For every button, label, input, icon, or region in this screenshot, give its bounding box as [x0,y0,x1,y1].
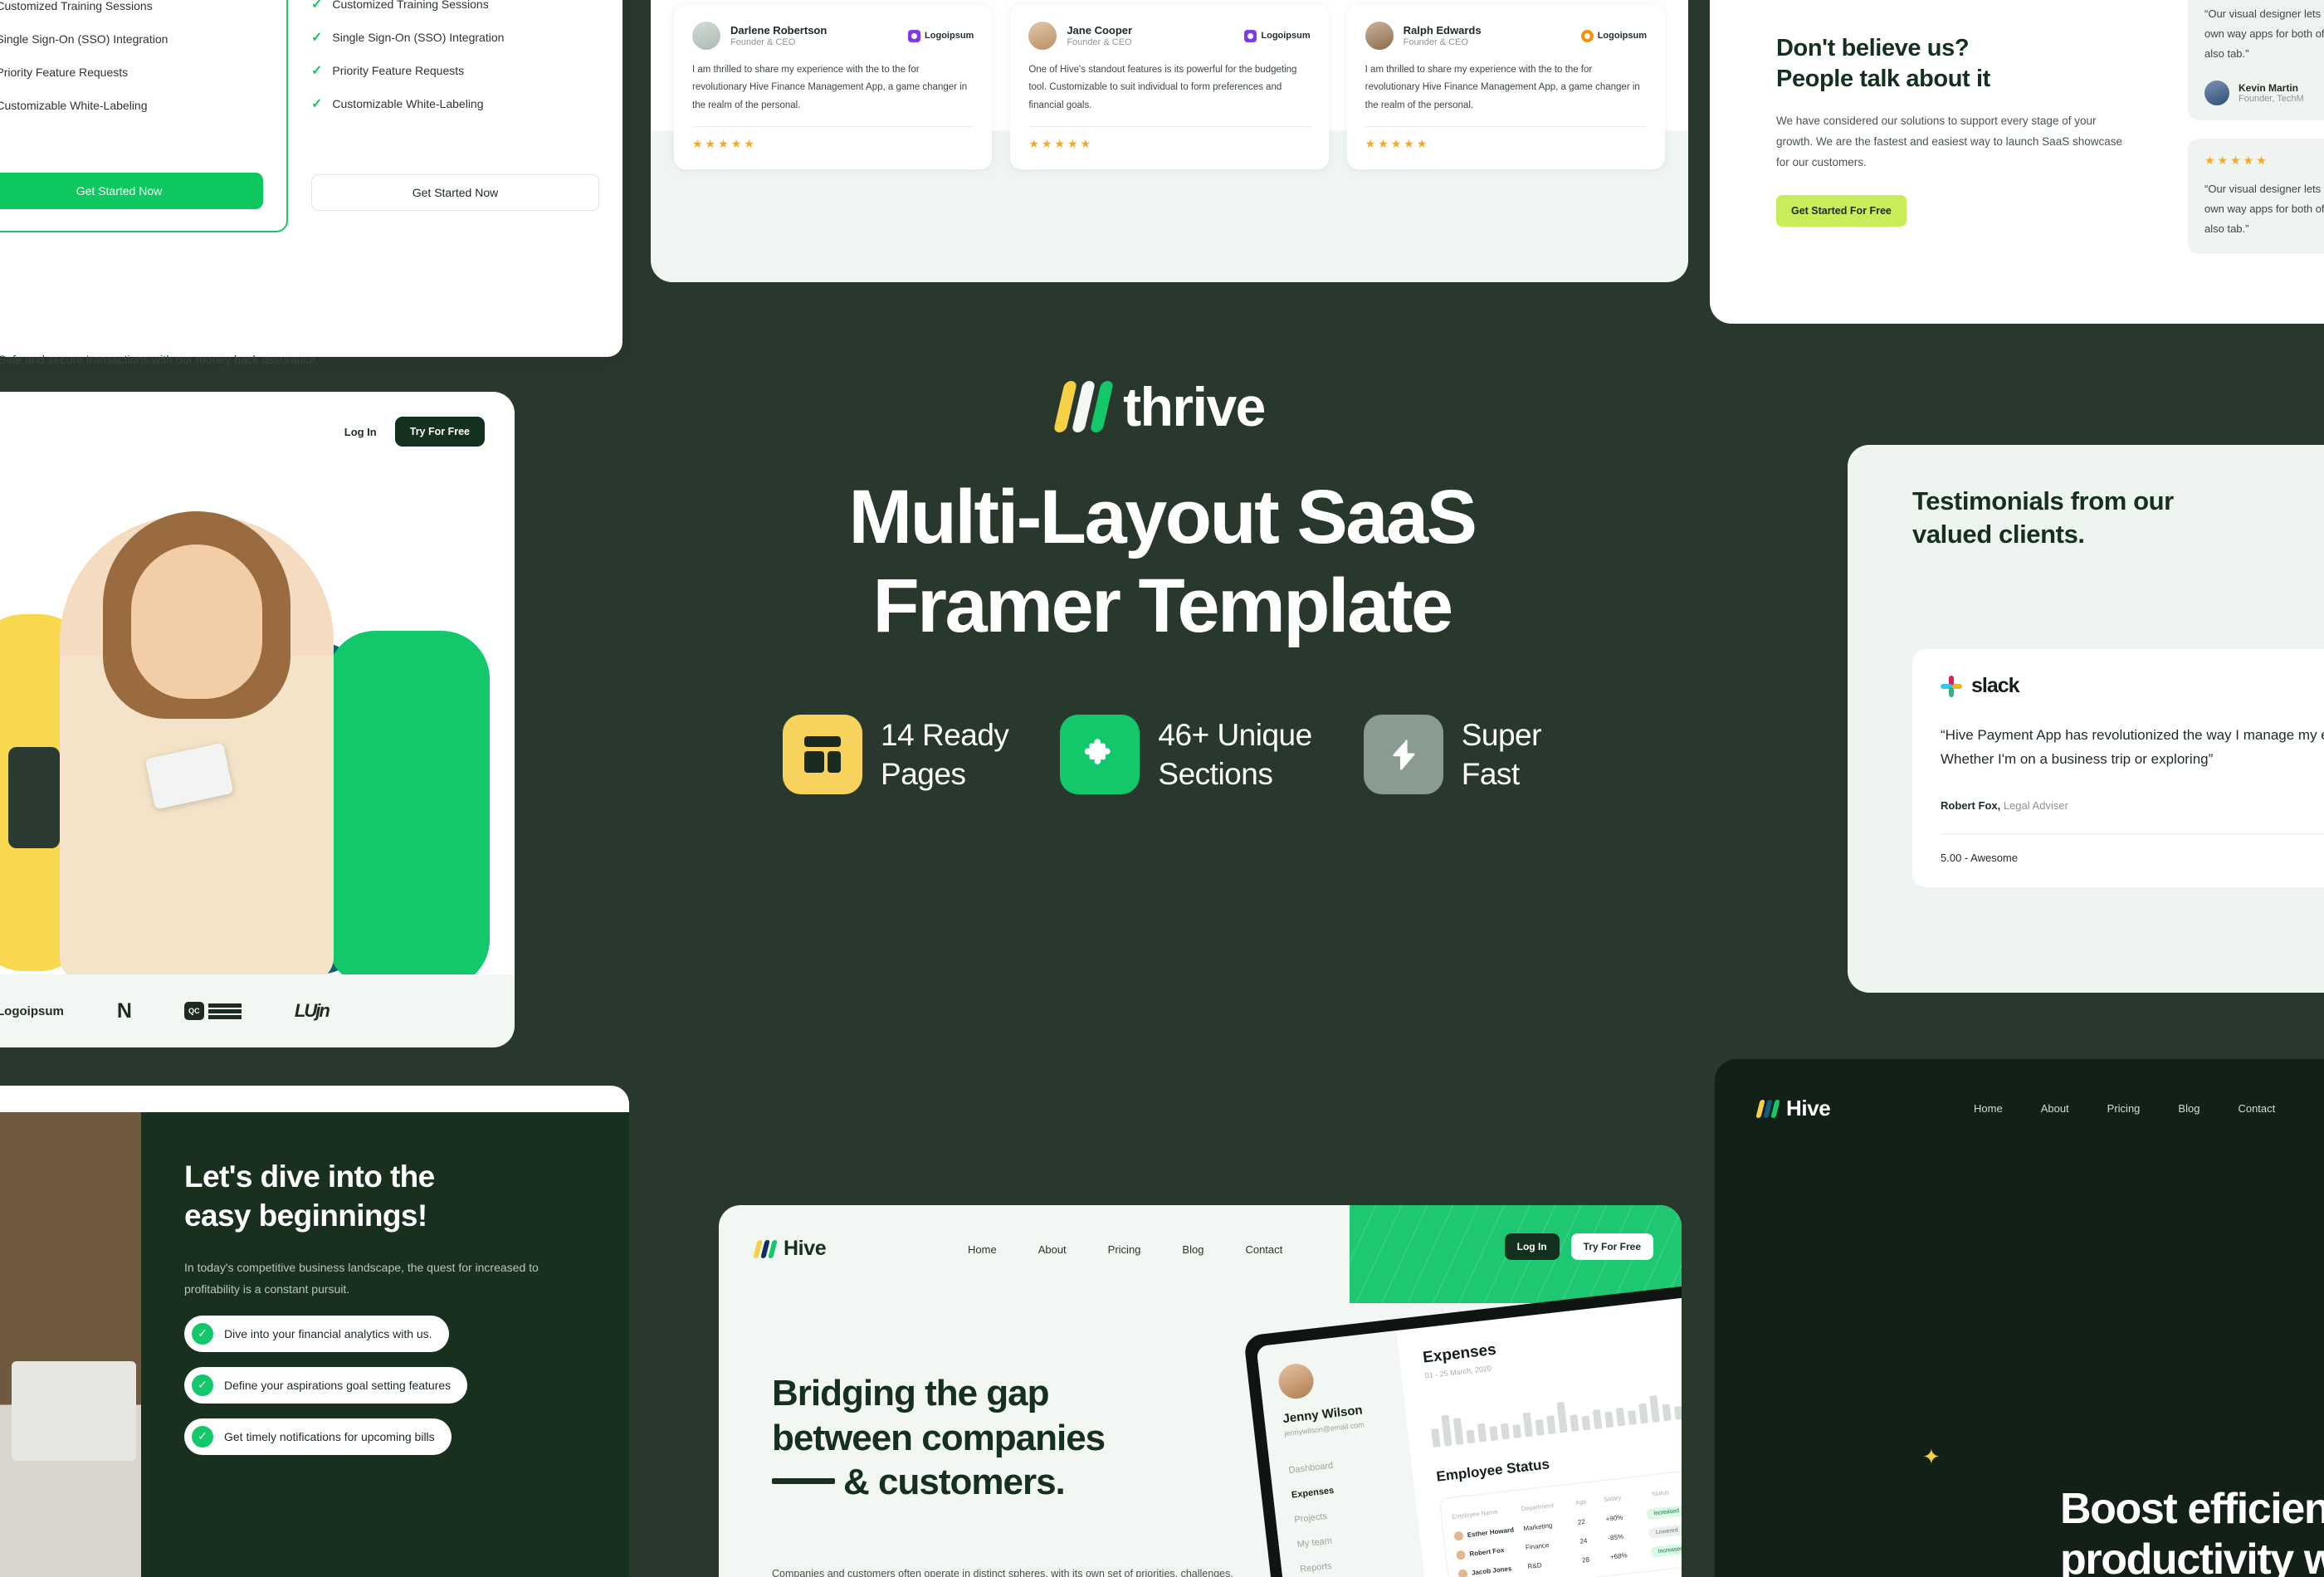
check-icon: ✓ [311,95,322,112]
dash-mark [772,1478,835,1484]
label-line-2: Sections [1158,754,1311,793]
chart-bar [1582,1415,1591,1430]
logoipsum-icon [1581,30,1594,42]
client-logo-strip: Logoipsum N QC LUjn [0,974,515,1047]
bridge-heading: Bridging the gap between companies & cus… [772,1371,1303,1505]
chart-bar [1501,1423,1510,1440]
testimonial-header: Jane Cooper Founder & CEO Logoipsum [1028,22,1310,50]
nav-item-contact[interactable]: Contact [2238,1102,2275,1115]
plan-feature: ✓Customizable White-Labeling [311,95,599,112]
hive-logo: Hive [1758,1096,1830,1121]
believe-copy: Don't believe us? People talk about it W… [1776,33,2133,227]
chart-bar [1604,1412,1614,1428]
avatar [1458,1569,1468,1577]
cell-age: 22 [1577,1516,1598,1526]
get-started-button-99[interactable]: Get Started Now [311,174,599,211]
logo-label: Logoipsum [1598,31,1647,41]
logoipsum-icon [1244,30,1257,42]
chart-bar [1431,1429,1440,1448]
label-line-1: Super [1462,715,1541,754]
review-card: ★★★★★ “Our visual designer lets you and … [2188,0,2324,120]
logoipsum-icon [908,30,920,42]
chart-bar [1467,1430,1476,1444]
feature-unique-sections: 46+ Unique Sections [1060,715,1311,794]
nav-item-blog[interactable]: Blog [1182,1243,1203,1256]
poster-canvas: $49 / month ✓Dedicated Account Manager ✓… [0,0,2324,1577]
heading-line-1: Don't believe us? [1776,33,2133,64]
author-name: Darlene Robertson [730,24,827,37]
lightning-bolt-icon [1364,715,1443,794]
believe-paragraph: We have considered our solutions to supp… [1776,111,2133,173]
feature-super-fast: Super Fast [1364,715,1541,794]
try-for-free-button[interactable]: Try For Free [1571,1233,1653,1260]
divider [692,126,974,127]
author-name: Ralph Edwards [1404,24,1482,37]
star-rating: ★★★★★ [1365,137,1647,151]
testimonial-list: Darlene Robertson Founder & CEO Logoipsu… [674,5,1665,169]
bridging-gap-card: Hive Home About Pricing Blog Contact Log… [719,1205,1682,1577]
pricing-plan-49: $49 / month ✓Dedicated Account Manager ✓… [0,0,288,232]
avatar [2204,81,2229,105]
status-badge: Increased [1647,1505,1682,1520]
nav-item-about[interactable]: About [2041,1102,2069,1115]
get-started-free-button[interactable]: Get Started For Free [1776,195,1907,227]
cell-name: Esther Howard [1453,1525,1516,1540]
title-line-2: Framer Template [0,562,2324,651]
avatar [1453,1531,1463,1541]
heading-line-3: & customers. [772,1460,1303,1505]
chart-bar [1535,1419,1545,1436]
logo-label: Logoipsum [1261,31,1310,41]
heading-line-2: productivity with [2060,1535,2324,1577]
dont-believe-us-card: Don't believe us? People talk about it W… [1710,0,2324,324]
sparkle-icon: ✦ [1922,1444,1941,1470]
chart-bar [1477,1423,1487,1442]
check-icon: ✓ [192,1323,213,1345]
cell-dept: Marketing [1523,1520,1570,1532]
avatar [692,22,720,50]
boost-heading: Boost efficiency productivity with [2060,1484,2324,1577]
divider [1028,126,1310,127]
sidebar-item-dashboard[interactable]: Dashboard [1288,1454,1394,1476]
check-icon: ✓ [192,1374,213,1396]
pricing-card: $49 / month ✓Dedicated Account Manager ✓… [0,0,622,357]
testimonial-author: Robert Fox, Legal Adviser [1941,799,2324,812]
plan-feature: ✓Single Sign-On (SSO) Integration [0,31,263,47]
testimonial-card: Jane Cooper Founder & CEO Logoipsum One … [1010,5,1328,169]
chart-bar [1556,1401,1567,1433]
avatar [1365,22,1394,50]
thrive-bars-icon [1059,381,1108,432]
pill-label: Get timely notifications for upcoming bi… [224,1430,435,1443]
label-line-2: Pages [881,754,1008,793]
cell-salary: +90% [1605,1511,1639,1522]
nav-item-contact[interactable]: Contact [1245,1243,1282,1256]
company-logo: Logoipsum [1244,30,1310,42]
company-logo: Logoipsum [1581,30,1647,42]
feature-label: Customized Training Sessions [332,0,488,11]
pricing-plan-grid: $49 / month ✓Dedicated Account Manager ✓… [0,0,622,232]
nav-item-pricing[interactable]: Pricing [2107,1102,2141,1115]
sidebar-item-my-team[interactable]: My team [1296,1528,1402,1550]
feature-label: Priority Feature Requests [0,66,128,79]
testimonial-header: Ralph Edwards Founder & CEO Logoipsum [1365,22,1647,50]
cell-dept: R&D [1527,1558,1575,1570]
chart-bar [1662,1404,1672,1421]
author-role: Founder, TechM [2239,94,2304,104]
testimonial-quote: I am thrilled to share my experience wit… [1365,61,1647,115]
avatar [1456,1550,1466,1560]
check-icon: ✓ [192,1426,213,1448]
chart-bar [1628,1410,1637,1425]
plan-feature: ✓Single Sign-On (SSO) Integration [311,29,599,46]
check-icon: ✓ [311,0,322,12]
chart-bar [1674,1406,1682,1420]
nav-item-pricing[interactable]: Pricing [1108,1243,1141,1256]
cell-dept: Finance [1526,1539,1573,1551]
dashboard-main: + Expenses 01 - 25 March, 2020 Employee … [1396,1290,1682,1577]
feature-badges: 14 Ready Pages 46+ Unique Sections Sup [0,715,2324,794]
chart-bar [1489,1426,1498,1441]
logo-n: N [117,999,131,1023]
star-rating: ★★★★★ [692,137,974,151]
heading-line-1: Bridging the gap [772,1371,1303,1416]
divider [1941,833,2324,834]
avatar [1028,22,1057,50]
pricing-assurance-note: 00% Safe and secure transactions with ou… [0,353,319,366]
feature-label: Single Sign-On (SSO) Integration [332,31,504,44]
chart-bar [1616,1408,1625,1426]
boost-nav: Home About Pricing Blog Contact [1974,1102,2275,1115]
feature-label: Customizable White-Labeling [0,99,148,112]
cell-salary: +68% [1609,1550,1643,1560]
author-name: Robert Fox, [1941,799,2000,812]
dive-beginnings-card: Let's dive into the easy beginnings! In … [0,1086,629,1577]
layout-icon [783,715,862,794]
office-photo [0,1112,141,1577]
sidebar-menu: Dashboard Expenses Projects My team Repo… [1288,1454,1408,1577]
hive-label: Hive [784,1237,826,1261]
label-line-1: 46+ Unique [1158,715,1311,754]
rating-score: 5.00 - Awesome [1941,852,2018,864]
login-button[interactable]: Log In [1505,1233,1560,1260]
logo-label: Logoipsum [0,1004,64,1018]
plan-feature: ✓Priority Feature Requests [311,62,599,79]
cell-salary: -85% [1608,1531,1642,1541]
power-module-mark [208,1003,242,1019]
plan-feature: ✓Customizable White-Labeling [0,97,263,114]
logo-logoipsum: Logoipsum [0,1004,64,1018]
plan-feature: ✓Customized Training Sessions [311,0,599,12]
avatar [1277,1362,1315,1400]
cell-name: Robert Fox [1456,1544,1518,1560]
page-title: Multi-Layout SaaS Framer Template [0,473,2324,650]
nav-item-about[interactable]: About [1038,1243,1067,1256]
col-header-name: Employee Name [1452,1506,1514,1521]
author-role: Founder & CEO [1067,37,1132,47]
sidebar-item-projects[interactable]: Projects [1294,1503,1399,1525]
nav-item-home[interactable]: Home [968,1243,997,1256]
hero-center: thrive Multi-Layout SaaS Framer Template… [0,375,2324,794]
chart-bar [1512,1424,1521,1438]
heading-line-1: Boost efficiency [2060,1484,2324,1535]
check-icon: ✓ [311,29,322,46]
qc-icon: QC [184,1002,204,1020]
thrive-label: thrive [1123,375,1265,438]
sidebar-item-expenses[interactable]: Expenses [1291,1478,1396,1500]
believe-review-list: ★★★★★ “Our visual designer lets you and … [2188,0,2324,272]
review-quote: “Our visual designer lets you and drop y… [2204,179,2324,239]
thrive-logo: thrive [0,375,2324,438]
heading-line-2: easy beginnings! [184,1196,581,1235]
tablet-mockup: Jenny Wilson jennywilson@email.com Dashb… [1243,1278,1682,1577]
pill-label: Define your aspirations goal setting fea… [224,1379,451,1392]
hive-label: Hive [1786,1096,1830,1121]
heading-line-2: People talk about it [1776,64,2133,95]
label-line-2: Fast [1462,754,1541,793]
chart-bar [1523,1413,1533,1438]
rating-footer: 5.00 - Awesome ★★★★★ [1941,849,2324,866]
feature-label: Customized Training Sessions [0,0,153,12]
author-name: Kevin Martin [2239,82,2304,94]
author-role: Legal Adviser [2000,799,2068,812]
feature-label: 46+ Unique Sections [1158,715,1311,794]
logo-power-module: QC [184,1002,242,1020]
boost-efficiency-card: Hive Home About Pricing Blog Contact ✦ B… [1715,1059,2324,1577]
dive-heading: Let's dive into the easy beginnings! [184,1157,581,1236]
chart-bar [1546,1416,1555,1434]
author-role: Founder & CEO [730,37,827,47]
heading-line-1: Let's dive into the [184,1157,581,1196]
company-logo: Logoipsum [908,30,974,42]
sidebar-item-reports[interactable]: Reports [1300,1553,1405,1575]
nav-item-blog[interactable]: Blog [2178,1102,2199,1115]
chart-bar [1593,1409,1603,1429]
puzzle-icon [1060,715,1140,794]
col-header-salary: Salary [1604,1492,1638,1503]
chart-bar [1649,1395,1660,1422]
review-quote: “Our visual designer lets you and drop y… [2204,4,2324,64]
dive-paragraph: In today's competitive business landscap… [184,1257,541,1301]
logo-lujn: LUjn [295,1000,329,1022]
review-card: ★★★★★ “Our visual designer lets you and … [2188,139,2324,254]
hive-bars-icon [1758,1100,1778,1118]
benefit-pill: ✓ Dive into your financial analytics wit… [184,1316,449,1352]
get-started-button-49[interactable]: Get Started Now [0,173,263,209]
chart-bar [1441,1414,1452,1446]
testimonial-header: Darlene Robertson Founder & CEO Logoipsu… [692,22,974,50]
feature-label: Super Fast [1462,715,1541,794]
feature-label: Single Sign-On (SSO) Integration [0,32,168,46]
testimonial-card: Ralph Edwards Founder & CEO Logoipsum I … [1347,5,1665,169]
chart-bar [1453,1418,1464,1444]
chart-bar [1570,1414,1579,1432]
feature-label: 14 Ready Pages [881,715,1008,794]
bridge-auth: Log In Try For Free [1505,1233,1653,1260]
dashboard-screen: Jenny Wilson jennywilson@email.com Dashb… [1256,1290,1682,1577]
divider [1365,126,1647,127]
testimonial-quote: One of Hive's standout features is its p… [1028,61,1310,115]
logo-label: Logoipsum [925,31,974,41]
pricing-plan-99: $99 / month ✓Dedicated Account Manager ✓… [288,0,622,232]
cell-name: Jacob Jones [1458,1563,1521,1577]
star-rating: ★★★★★ [1028,137,1310,151]
feature-ready-pages: 14 Ready Pages [783,715,1008,794]
plan-feature: ✓Customized Training Sessions [0,0,263,14]
title-line-1: Multi-Layout SaaS [0,473,2324,562]
testimonial-quote: I am thrilled to share my experience wit… [692,61,974,115]
testimonial-card: Darlene Robertson Founder & CEO Logoipsu… [674,5,992,169]
heading-line-2: between companies [772,1416,1303,1461]
believe-heading: Don't believe us? People talk about it [1776,33,2133,95]
bridge-paragraph: Companies and customers often operate in… [772,1564,1237,1577]
author-role: Founder & CEO [1404,37,1482,47]
cell-age: 28 [1582,1555,1603,1565]
col-header-dept: Department [1521,1500,1568,1512]
nav-item-home[interactable]: Home [1974,1102,2003,1115]
benefit-pill: ✓ Define your aspirations goal setting f… [184,1367,467,1404]
col-header-age: Age [1575,1496,1596,1506]
plan-feature: ✓Priority Feature Requests [0,64,263,81]
review-author: Kevin Martin Founder, TechM [2204,81,2324,105]
expenses-bar-chart [1428,1365,1682,1448]
benefit-pill: ✓ Get timely notifications for upcoming … [184,1418,452,1455]
bridge-header: Hive Home About Pricing Blog Contact Log… [719,1205,1682,1303]
hive-logo: Hive [755,1237,826,1261]
chart-bar [1638,1403,1648,1423]
author-name: Jane Cooper [1067,24,1132,37]
feature-label: Customizable White-Labeling [332,97,483,110]
label-line-1: 14 Ready [881,715,1008,754]
star-rating: ★★★★★ [2204,154,2324,168]
dive-copy: Let's dive into the easy beginnings! In … [141,1112,629,1577]
hive-bars-icon [755,1240,775,1258]
check-icon: ✓ [311,62,322,79]
testimonials-trio-card: Darlene Robertson Founder & CEO Logoipsu… [651,0,1688,282]
feature-label: Priority Feature Requests [332,64,464,77]
bridge-nav: Home About Pricing Blog Contact [968,1243,1282,1256]
status-badge: Lowered [1648,1524,1682,1539]
cell-age: 24 [1579,1535,1600,1545]
col-header-status: Status [1644,1485,1677,1501]
status-badge: Increased [1651,1543,1682,1558]
pill-label: Dive into your financial analytics with … [224,1327,432,1340]
